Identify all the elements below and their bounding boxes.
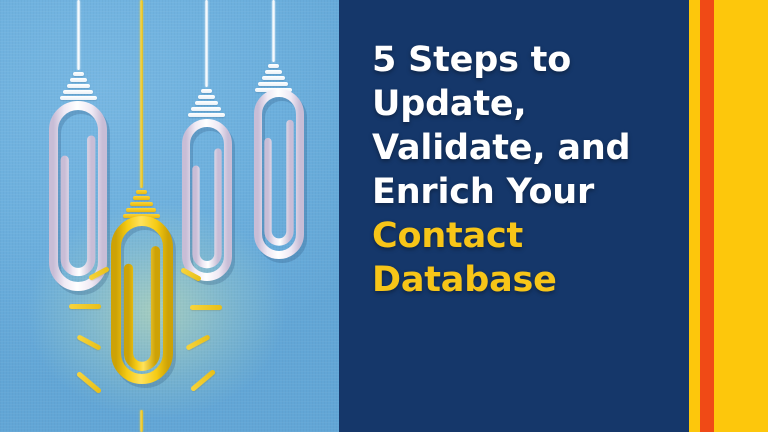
cone-white-1-bar-2 [70, 78, 87, 82]
cone-white-1-bar-1 [73, 72, 84, 76]
string-yellow-center [140, 0, 143, 188]
cone-yellow-center-bar-4 [126, 208, 156, 212]
cone-white-3-bar-2 [265, 70, 282, 74]
cone-white-1-bar-3 [67, 84, 90, 88]
cone-yellow-center-bar-2 [133, 196, 150, 200]
stripe-yellow-thin [689, 0, 700, 432]
string-white-1 [77, 0, 80, 70]
string-yellow-bottom [140, 410, 143, 432]
paperclip-lavender-2 [181, 118, 233, 282]
cone-yellow-center [121, 190, 161, 218]
page-title: 5 Steps toUpdate,Validate, andEnrich You… [372, 38, 672, 302]
cone-white-2-bar-5 [188, 113, 225, 117]
stripe-yellow-wide [714, 0, 768, 432]
cone-white-3-bar-4 [258, 82, 288, 86]
slide-canvas: 5 Steps toUpdate,Validate, andEnrich You… [0, 0, 768, 432]
ray-right-2 [190, 305, 222, 310]
title-line-5: Contact [372, 214, 672, 258]
title-line-2: Update, [372, 82, 672, 126]
cone-yellow-center-bar-3 [130, 202, 153, 206]
string-white-2 [205, 0, 208, 87]
cone-white-2-bar-4 [191, 107, 221, 111]
string-white-3 [272, 0, 275, 62]
cone-white-2-bar-2 [198, 95, 215, 99]
stripe-orange [700, 0, 714, 432]
cone-white-2 [186, 89, 226, 117]
cone-white-2-bar-1 [201, 89, 212, 93]
cone-white-1 [58, 72, 98, 100]
title-line-4: Enrich Your [372, 170, 672, 214]
cone-white-3-bar-1 [268, 64, 279, 68]
title-line-3: Validate, and [372, 126, 672, 170]
cone-white-3-bar-3 [262, 76, 285, 80]
title-line-6: Database [372, 258, 672, 302]
ray-left-2 [69, 304, 101, 309]
hero-photo [0, 0, 339, 432]
title-line-1: 5 Steps to [372, 38, 672, 82]
cone-white-1-bar-4 [63, 90, 93, 94]
cone-white-2-bar-3 [195, 101, 218, 105]
paperclip-yellow-hero [110, 215, 174, 385]
cone-yellow-center-bar-1 [136, 190, 147, 194]
paperclip-lavender-3 [253, 88, 305, 260]
title-panel: 5 Steps toUpdate,Validate, andEnrich You… [339, 0, 689, 432]
paperclip-lavender-1 [48, 100, 108, 292]
